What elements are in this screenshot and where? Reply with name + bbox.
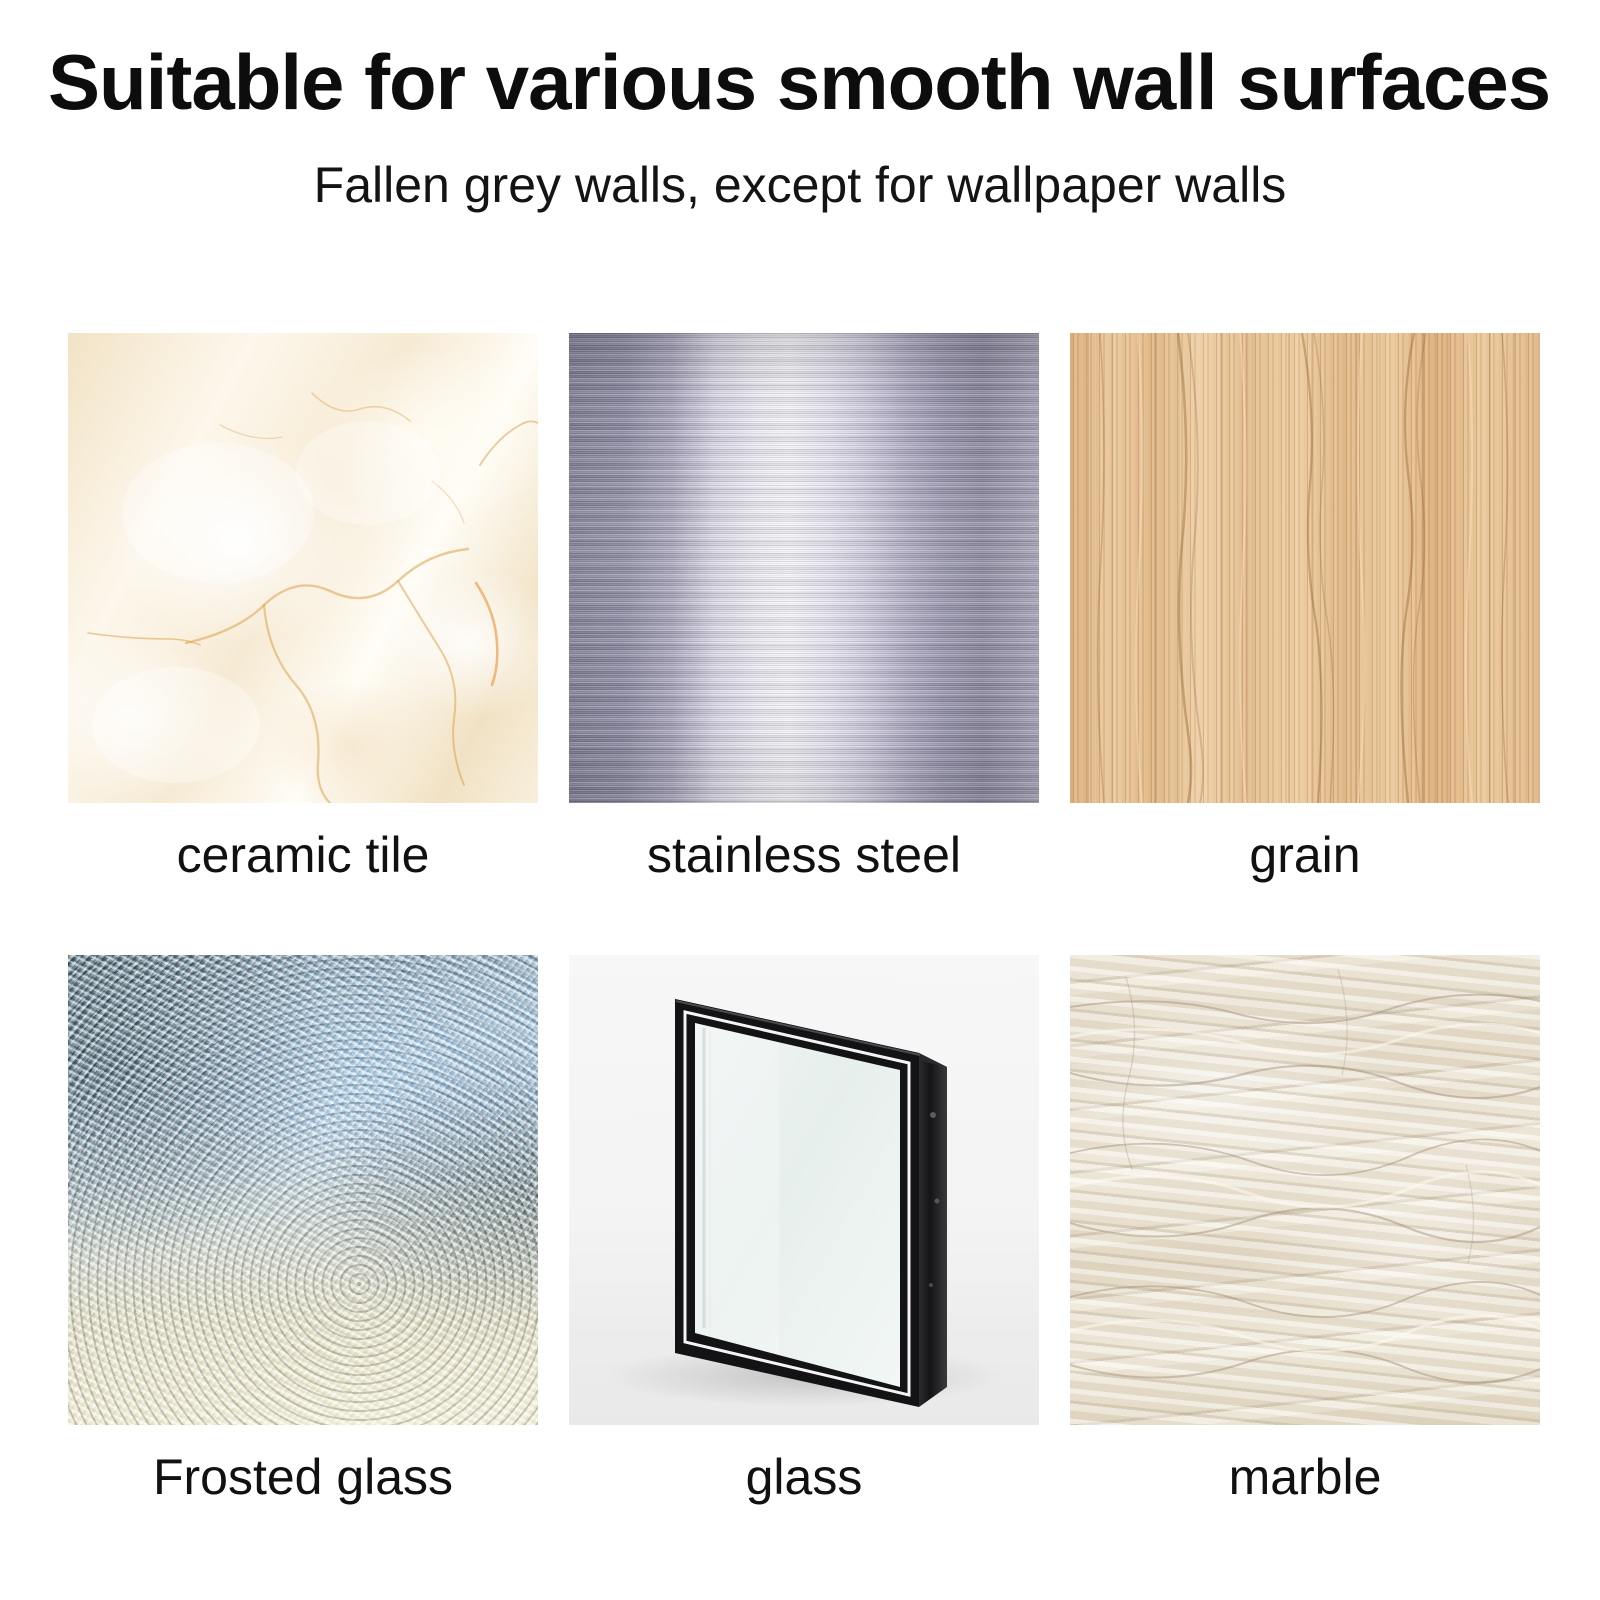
surface-label-frosted-glass: Frosted glass (28, 1450, 578, 1505)
infographic-page: Suitable for various smooth wall surface… (0, 0, 1600, 1600)
surface-item-glass: glass (569, 955, 1039, 1425)
swatch-glass (569, 955, 1039, 1425)
surface-grid: ceramic tile stainless steel (68, 333, 1540, 1483)
surface-label-ceramic-tile: ceramic tile (28, 828, 578, 883)
surface-item-marble: marble (1070, 955, 1540, 1425)
swatch-stainless-steel (569, 333, 1039, 803)
surface-item-frosted-glass: Frosted glass (68, 955, 538, 1425)
page-title: Suitable for various smooth wall surface… (48, 42, 1558, 124)
swatch-frosted-glass (68, 955, 538, 1425)
glass-unit-illustration (569, 955, 1039, 1425)
page-subtitle: Fallen grey walls, except for wallpaper … (0, 158, 1600, 213)
marble-vein-overlay (1070, 955, 1540, 1425)
surface-label-stainless-steel: stainless steel (529, 828, 1079, 883)
surface-item-stainless-steel: stainless steel (569, 333, 1039, 803)
swatch-grain (1070, 333, 1540, 803)
surface-label-glass: glass (529, 1450, 1079, 1505)
wood-grain-overlay (1070, 333, 1540, 803)
surface-item-grain: grain (1070, 333, 1540, 803)
surface-item-ceramic-tile: ceramic tile (68, 333, 538, 803)
swatch-marble (1070, 955, 1540, 1425)
frosted-stipple-overlay-secondary (68, 955, 538, 1425)
steel-sheen-overlay (569, 333, 1039, 803)
surface-label-grain: grain (1030, 828, 1580, 883)
swatch-ceramic-tile (68, 333, 538, 803)
surface-label-marble: marble (1030, 1450, 1580, 1505)
ceramic-vein-overlay (68, 333, 538, 803)
